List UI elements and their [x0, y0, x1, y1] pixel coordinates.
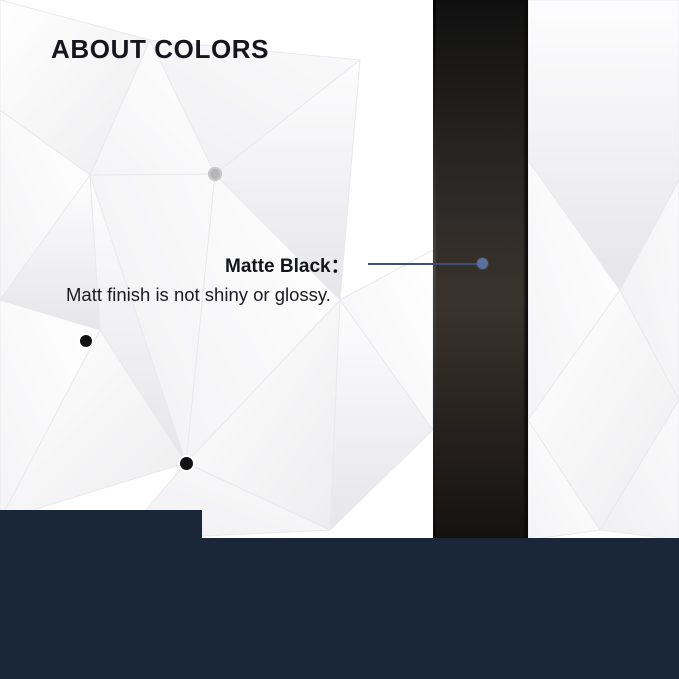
vertex-dot-black-1 [80, 335, 92, 347]
vertex-dot-gray [208, 167, 222, 181]
product-highlight-left [433, 0, 436, 540]
about-colors-infographic: ABOUT COLORS Matte Black： Matt finish is… [0, 0, 679, 679]
product-shadow-right [523, 0, 528, 540]
leader-line-icon [368, 263, 481, 265]
vertex-dot-black-2 [180, 457, 193, 470]
product-image-matte-black [433, 0, 528, 540]
swatch-item-matte-black-selected[interactable]: Matte Black [0, 510, 202, 679]
page-title: ABOUT COLORS [51, 34, 269, 65]
callout-description: Matt finish is not shiny or glossy. [66, 284, 331, 306]
leader-line-dot-icon [477, 258, 488, 269]
callout-title: Matte Black： [225, 251, 350, 278]
